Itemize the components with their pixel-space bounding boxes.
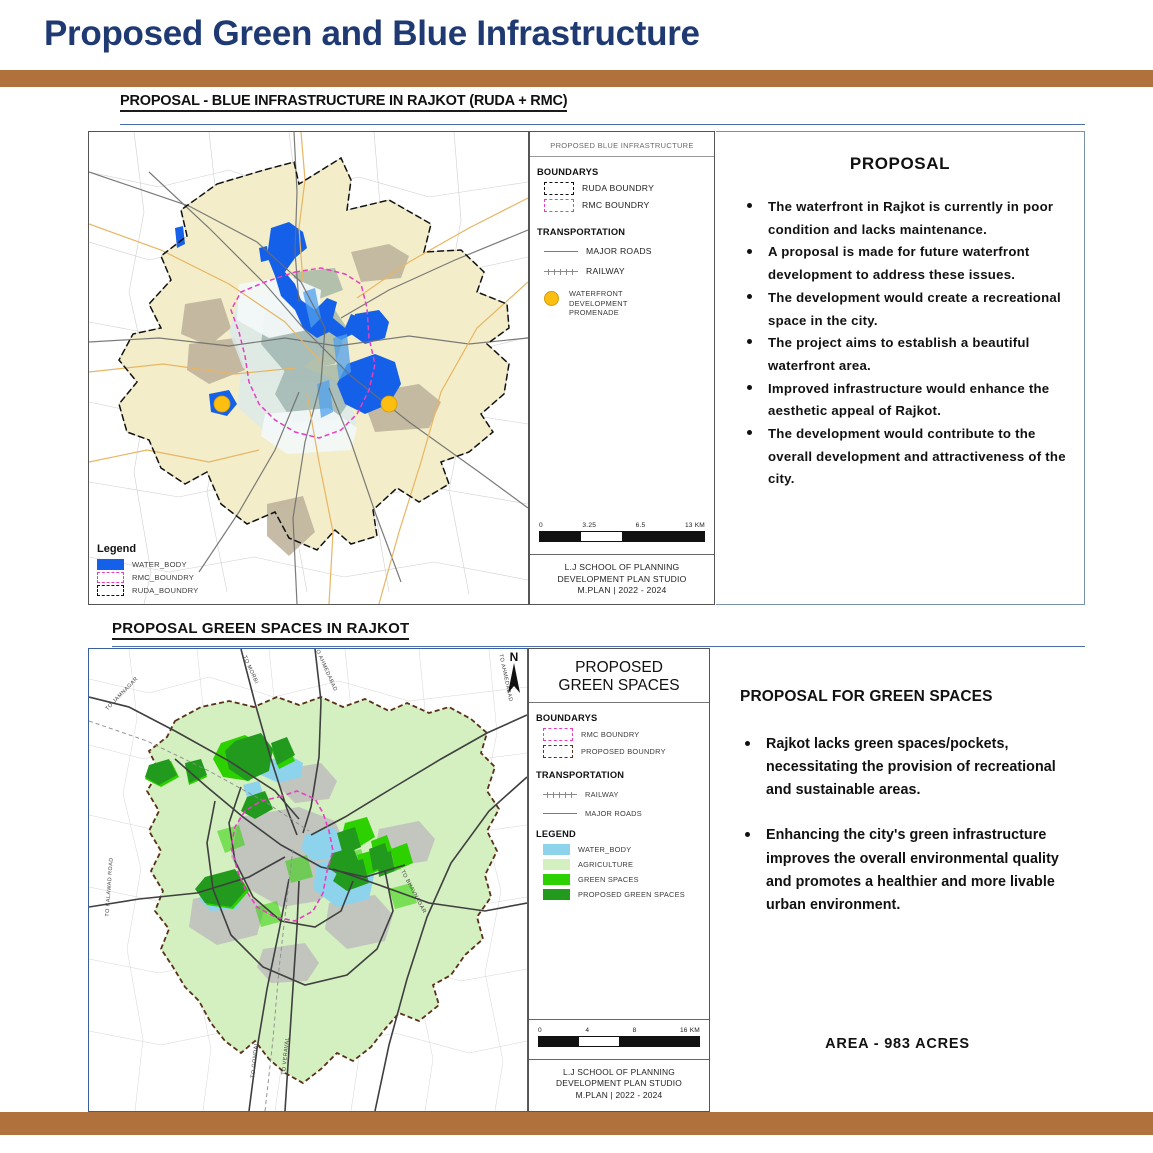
- railway-icon: [543, 794, 577, 795]
- legend-label: PROPOSED GREEN SPACES: [578, 890, 685, 899]
- north-arrow-icon: [507, 663, 521, 695]
- divider-blue: [120, 124, 1085, 125]
- blue-infrastructure-map[interactable]: Legend WATER_BODY RMC_BOUNDRY RUDA_BOUND…: [88, 131, 529, 605]
- green-map-credits: L.J SCHOOL OF PLANNING DEVELOPMENT PLAN …: [529, 1067, 709, 1101]
- major-roads-icon: [543, 813, 577, 814]
- blue-map-legend-panel: PROPOSED BLUE INFRASTRUCTURE BOUNDARYS R…: [529, 131, 715, 605]
- green-map-canvas: [89, 649, 527, 1111]
- proposed-green-spaces-swatch: [543, 889, 570, 900]
- scale-tick: 4: [585, 1027, 589, 1034]
- credit-line: DEVELOPMENT PLAN STUDIO: [529, 1078, 709, 1089]
- scale-tick: 16 KM: [680, 1027, 700, 1034]
- legend-label: MAJOR ROADS: [586, 246, 652, 257]
- divider-green: [112, 646, 1085, 647]
- legend-group-boundarys: BOUNDARYS: [536, 713, 709, 723]
- rmc-boundry-swatch: [97, 572, 124, 583]
- bullet-item: The waterfront in Rajkot is currently in…: [742, 196, 1070, 241]
- agriculture-swatch: [543, 859, 570, 870]
- major-roads-icon: [544, 251, 578, 252]
- rmc-boundry-swatch: [543, 728, 573, 741]
- bullet-item: Enhancing the city's green infrastructur…: [740, 824, 1059, 917]
- scale-tick: 0: [539, 522, 543, 529]
- credit-line: M.PLAN | 2022 - 2024: [529, 1090, 709, 1101]
- legend-item-major-roads: MAJOR ROADS: [544, 246, 714, 257]
- north-label: N: [507, 651, 521, 663]
- legend-item-major-roads: MAJOR ROADS: [543, 809, 709, 818]
- scale-tick: 13 KM: [685, 522, 705, 529]
- proposed-boundry-swatch: [543, 745, 573, 758]
- section-heading-green: PROPOSAL GREEN SPACES IN RAJKOT: [112, 620, 409, 640]
- ruda-boundry-swatch: [97, 585, 124, 596]
- legend-label: AGRICULTURE: [578, 860, 633, 869]
- scale-tick: 3.25: [582, 522, 596, 529]
- legend-group-transportation: TRANSPORTATION: [537, 227, 714, 237]
- scale-tick: 8: [633, 1027, 637, 1034]
- green-scale-bar: 0 4 8 16 KM: [529, 1027, 709, 1047]
- green-proposal-bullets: Rajkot lacks green spaces/pockets, neces…: [740, 733, 1059, 939]
- green-map-legend-panel: PROPOSED GREEN SPACES BOUNDARYS RMC BOUN…: [528, 648, 710, 1112]
- green-proposal-panel: PROPOSAL FOR GREEN SPACES Rajkot lacks g…: [710, 648, 1085, 1112]
- legend-label: RAILWAY: [585, 790, 619, 799]
- inset-legend-item-water: WATER_BODY: [97, 559, 199, 570]
- top-accent-bar: [0, 70, 1153, 87]
- legend-label: WATER_BODY: [578, 845, 631, 854]
- north-arrow: N: [507, 651, 521, 700]
- legend-title-line2: GREEN SPACES: [533, 677, 705, 695]
- bullet-item: Rajkot lacks green spaces/pockets, neces…: [740, 733, 1059, 802]
- legend-item-railway: RAILWAY: [544, 266, 714, 277]
- scale-tick: 6.5: [636, 522, 646, 529]
- bottom-accent-bar: [0, 1112, 1153, 1135]
- legend-label: RMC BOUNDRY: [582, 200, 650, 211]
- legend-group-transportation: TRANSPORTATION: [536, 770, 709, 780]
- blue-proposal-panel: PROPOSAL The waterfront in Rajkot is cur…: [716, 131, 1085, 605]
- legend-item-water-body: WATER_BODY: [543, 844, 709, 855]
- legend-item-waterfront-promenade: WATERFRONT DEVELOPMENT PROMENADE: [535, 289, 714, 317]
- scale-tick: 0: [538, 1027, 542, 1034]
- legend-label: PROPOSED BOUNDRY: [581, 747, 666, 756]
- credit-line: DEVELOPMENT PLAN STUDIO: [530, 574, 714, 586]
- legend-group-boundarys: BOUNDARYS: [537, 167, 714, 177]
- green-spaces-swatch: [543, 874, 570, 885]
- inset-legend-item-ruda: RUDA_BOUNDRY: [97, 585, 199, 596]
- legend-label: RMC BOUNDRY: [581, 730, 639, 739]
- legend-label: MAJOR ROADS: [585, 809, 642, 818]
- legend-item-green-spaces: GREEN SPACES: [543, 874, 709, 885]
- section-heading-blue: PROPOSAL - BLUE INFRASTRUCTURE IN RAJKOT…: [120, 93, 567, 112]
- blue-map-credits: L.J SCHOOL OF PLANNING DEVELOPMENT PLAN …: [530, 562, 714, 597]
- bullet-item: The project aims to establish a beautifu…: [742, 332, 1070, 377]
- inset-legend-title: Legend: [97, 543, 199, 555]
- legend-label: RAILWAY: [586, 266, 625, 277]
- legend-item-rmc-boundry: RMC BOUNDRY: [544, 199, 714, 212]
- waterfront-promenade-icon: [544, 291, 559, 306]
- proposal-title: PROPOSAL: [716, 154, 1084, 174]
- bullet-item: Improved infrastructure would enhance th…: [742, 378, 1070, 423]
- legend-item-agriculture: AGRICULTURE: [543, 859, 709, 870]
- legend-title-line1: PROPOSED: [533, 659, 705, 677]
- green-spaces-map[interactable]: TO JAMNAGAR TO MORBI TO AHMEDABAD TO AHM…: [88, 648, 528, 1112]
- ruda-boundry-swatch: [544, 182, 574, 195]
- area-label: AREA - 983 ACRES: [710, 1036, 1085, 1052]
- railway-icon: [544, 271, 578, 272]
- legend-title: PROPOSED BLUE INFRASTRUCTURE: [530, 132, 714, 157]
- blue-proposal-bullets: The waterfront in Rajkot is currently in…: [742, 196, 1070, 491]
- inset-legend-label: RMC_BOUNDRY: [132, 573, 194, 582]
- bullet-item: The development would contribute to the …: [742, 423, 1070, 491]
- legend-label: RUDA BOUNDRY: [582, 183, 654, 194]
- water-body-swatch: [97, 559, 124, 570]
- bullet-item: The development would create a recreatio…: [742, 287, 1070, 332]
- blue-map-inset-legend: Legend WATER_BODY RMC_BOUNDRY RUDA_BOUND…: [97, 543, 199, 598]
- rmc-boundry-swatch: [544, 199, 574, 212]
- legend-group-legend: LEGEND: [536, 829, 709, 839]
- legend-label: GREEN SPACES: [578, 875, 639, 884]
- blue-scale-bar: 0 3.25 6.5 13 KM: [530, 522, 714, 542]
- legend-title: PROPOSED GREEN SPACES: [529, 649, 709, 703]
- inset-legend-item-rmc: RMC_BOUNDRY: [97, 572, 199, 583]
- legend-item-proposed-green-spaces: PROPOSED GREEN SPACES: [543, 889, 709, 900]
- inset-legend-label: RUDA_BOUNDRY: [132, 586, 199, 595]
- proposal-title: PROPOSAL FOR GREEN SPACES: [740, 688, 993, 706]
- water-body-swatch: [543, 844, 570, 855]
- credit-line: M.PLAN | 2022 - 2024: [530, 585, 714, 597]
- legend-item-railway: RAILWAY: [543, 790, 709, 799]
- legend-item-proposed-boundry: PROPOSED BOUNDRY: [543, 745, 709, 758]
- inset-legend-label: WATER_BODY: [132, 560, 187, 569]
- legend-item-rmc-boundry: RMC BOUNDRY: [543, 728, 709, 741]
- legend-label: WATERFRONT DEVELOPMENT PROMENADE: [569, 289, 661, 317]
- bullet-item: A proposal is made for future waterfront…: [742, 241, 1070, 286]
- page-title: Proposed Green and Blue Infrastructure: [44, 14, 700, 54]
- blue-map-canvas: [89, 132, 528, 604]
- credit-line: L.J SCHOOL OF PLANNING: [530, 562, 714, 574]
- legend-item-ruda-boundry: RUDA BOUNDRY: [544, 182, 714, 195]
- credit-line: L.J SCHOOL OF PLANNING: [529, 1067, 709, 1078]
